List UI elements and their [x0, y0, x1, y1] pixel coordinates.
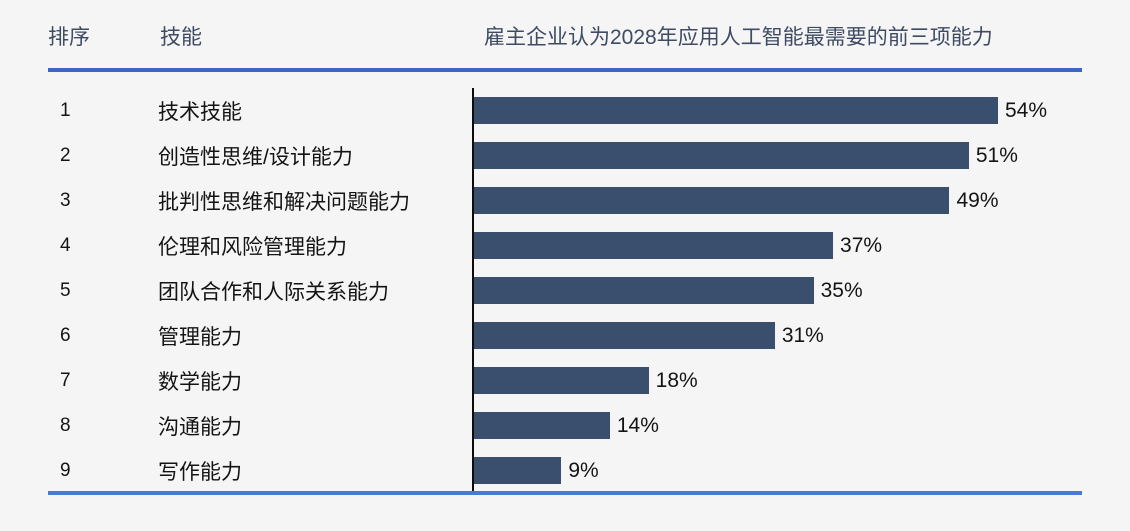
row-bar [474, 412, 610, 439]
row-skill-label: 沟通能力 [158, 403, 242, 448]
row-bar-group: 9% [474, 448, 599, 493]
row-bar [474, 232, 833, 259]
row-skill-label: 伦理和风险管理能力 [158, 223, 347, 268]
row-skill-label: 团队合作和人际关系能力 [158, 268, 389, 313]
row-bar [474, 322, 775, 349]
footer-divider-rule [48, 491, 1082, 495]
row-skill-label: 管理能力 [158, 313, 242, 358]
table-row: 9写作能力9% [0, 448, 1130, 493]
row-bar-group: 18% [474, 358, 698, 403]
table-row: 3批判性思维和解决问题能力49% [0, 178, 1130, 223]
row-skill-label: 写作能力 [158, 448, 242, 493]
row-bar [474, 367, 649, 394]
row-bar [474, 187, 949, 214]
row-value-label: 49% [956, 189, 998, 213]
column-header-value: 雇主企业认为2028年应用人工智能最需要的前三项能力 [484, 24, 993, 52]
row-value-label: 18% [656, 369, 698, 393]
row-rank: 9 [60, 448, 71, 493]
row-bar-group: 37% [474, 223, 882, 268]
row-bar-group: 35% [474, 268, 863, 313]
row-skill-label: 技术技能 [158, 88, 242, 133]
row-bar-group: 54% [474, 88, 1047, 133]
row-value-label: 51% [976, 144, 1018, 168]
row-value-label: 37% [840, 234, 882, 258]
row-rank: 3 [60, 178, 71, 223]
row-skill-label: 数学能力 [158, 358, 242, 403]
row-value-label: 9% [568, 459, 598, 483]
header-divider-rule [48, 68, 1082, 72]
row-rank: 5 [60, 268, 71, 313]
row-value-label: 35% [821, 279, 863, 303]
table-row: 6管理能力31% [0, 313, 1130, 358]
row-value-label: 31% [782, 324, 824, 348]
row-rank: 4 [60, 223, 71, 268]
row-rank: 7 [60, 358, 71, 403]
table-row: 1技术技能54% [0, 88, 1130, 133]
row-bar [474, 457, 561, 484]
row-bar-group: 31% [474, 313, 824, 358]
row-rank: 2 [60, 133, 71, 178]
row-bar [474, 97, 998, 124]
row-bar [474, 277, 814, 304]
table-row: 8沟通能力14% [0, 403, 1130, 448]
row-rank: 8 [60, 403, 71, 448]
row-rank: 6 [60, 313, 71, 358]
row-skill-label: 批判性思维和解决问题能力 [158, 178, 410, 223]
row-skill-label: 创造性思维/设计能力 [158, 133, 353, 178]
table-header: 排序 技能 雇主企业认为2028年应用人工智能最需要的前三项能力 [0, 24, 1130, 64]
row-bar-group: 51% [474, 133, 1018, 178]
column-header-rank: 排序 [48, 24, 90, 52]
row-bar [474, 142, 969, 169]
table-row: 2创造性思维/设计能力51% [0, 133, 1130, 178]
row-bar-group: 49% [474, 178, 999, 223]
table-row: 5团队合作和人际关系能力35% [0, 268, 1130, 313]
table-row: 4伦理和风险管理能力37% [0, 223, 1130, 268]
row-rank: 1 [60, 88, 71, 133]
chart-rows: 1技术技能54%2创造性思维/设计能力51%3批判性思维和解决问题能力49%4伦… [0, 88, 1130, 493]
column-header-skill: 技能 [160, 24, 202, 52]
skills-ranking-chart: 排序 技能 雇主企业认为2028年应用人工智能最需要的前三项能力 1技术技能54… [0, 0, 1130, 531]
table-row: 7数学能力18% [0, 358, 1130, 403]
row-value-label: 14% [617, 414, 659, 438]
row-bar-group: 14% [474, 403, 659, 448]
row-value-label: 54% [1005, 99, 1047, 123]
